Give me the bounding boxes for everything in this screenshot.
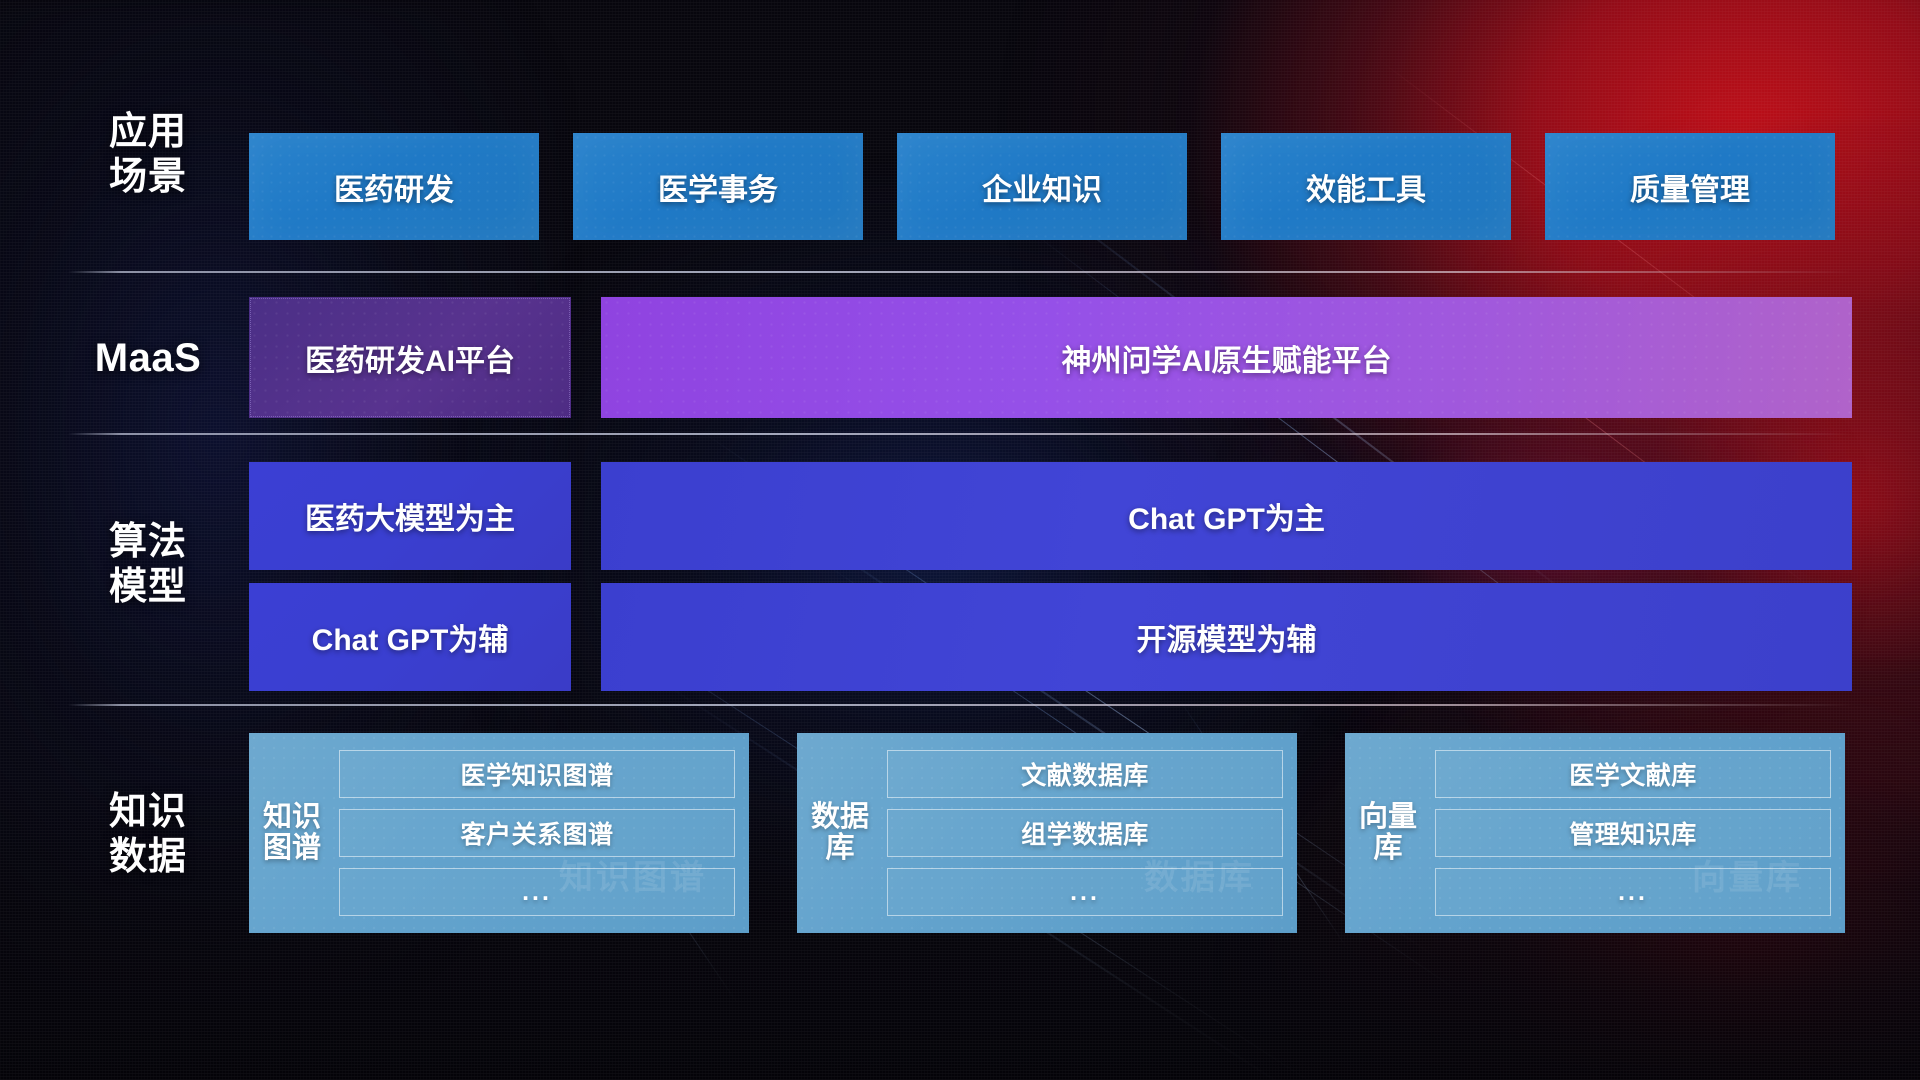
divider-algorithm-knowledge	[68, 704, 1852, 706]
algo-box-secondary-right[interactable]: 开源模型为辅	[601, 583, 1852, 691]
maas-box-shenzhou-wenxue-platform[interactable]: 神州问学AI原生赋能平台	[601, 297, 1852, 418]
maas-box-drug-ai-platform[interactable]: 医药研发AI平台	[249, 297, 571, 418]
knowledge-panel-database-title: 数据库	[807, 802, 873, 865]
knowledge-panel-graph-title: 知识图谱	[259, 802, 325, 865]
row-label-algorithm: 算法 模型	[68, 520, 228, 610]
row-label-application-line2: 场景	[68, 155, 228, 200]
knowledge-panel-graph-items: 医学知识图谱 客户关系图谱 ...	[325, 750, 735, 916]
row-label-knowledge-line1: 知识	[68, 790, 228, 835]
app-box-enterprise-knowledge[interactable]: 企业知识	[897, 133, 1187, 240]
row-label-knowledge: 知识 数据	[68, 790, 228, 880]
knowledge-panel-graph[interactable]: 知识图谱 医学知识图谱 客户关系图谱 ... 知识图谱	[249, 733, 749, 933]
knowledge-item-medical-literature[interactable]: 医学文献库	[1435, 750, 1831, 798]
knowledge-panel-database-items: 文献数据库 组学数据库 ...	[873, 750, 1283, 916]
app-box-quality-management[interactable]: 质量管理	[1545, 133, 1835, 240]
algo-box-primary-left[interactable]: 医药大模型为主	[249, 462, 571, 570]
algo-box-primary-right[interactable]: Chat GPT为主	[601, 462, 1852, 570]
divider-maas-algorithm	[68, 433, 1852, 435]
knowledge-item-medical-graph[interactable]: 医学知识图谱	[339, 750, 735, 798]
knowledge-panel-vector-items: 医学文献库 管理知识库 ...	[1421, 750, 1831, 916]
app-box-efficiency-tools[interactable]: 效能工具	[1221, 133, 1511, 240]
knowledge-item-literature-db[interactable]: 文献数据库	[887, 750, 1283, 798]
knowledge-panel-database[interactable]: 数据库 文献数据库 组学数据库 ... 数据库	[797, 733, 1297, 933]
knowledge-panel-vector[interactable]: 向量库 医学文献库 管理知识库 ... 向量库	[1345, 733, 1845, 933]
row-label-application: 应用 场景	[68, 110, 228, 200]
row-label-knowledge-line2: 数据	[68, 835, 228, 880]
row-label-maas: MaaS	[68, 335, 228, 382]
algo-box-secondary-left[interactable]: Chat GPT为辅	[249, 583, 571, 691]
app-box-drug-rd[interactable]: 医药研发	[249, 133, 539, 240]
knowledge-item-database-more[interactable]: ...	[887, 868, 1283, 916]
knowledge-item-management-knowledge[interactable]: 管理知识库	[1435, 809, 1831, 857]
row-label-application-line1: 应用	[68, 110, 228, 155]
knowledge-panel-vector-title: 向量库	[1355, 802, 1421, 865]
knowledge-item-customer-graph[interactable]: 客户关系图谱	[339, 809, 735, 857]
divider-application-maas	[68, 271, 1852, 273]
app-box-medical-affairs[interactable]: 医学事务	[573, 133, 863, 240]
knowledge-item-graph-more[interactable]: ...	[339, 868, 735, 916]
knowledge-item-vector-more[interactable]: ...	[1435, 868, 1831, 916]
row-label-algorithm-line1: 算法	[68, 520, 228, 565]
row-label-algorithm-line2: 模型	[68, 565, 228, 610]
slide-canvas: 应用 场景 医药研发 医学事务 企业知识 效能工具 质量管理 MaaS 医药研发…	[0, 0, 1920, 1080]
knowledge-item-omics-db[interactable]: 组学数据库	[887, 809, 1283, 857]
